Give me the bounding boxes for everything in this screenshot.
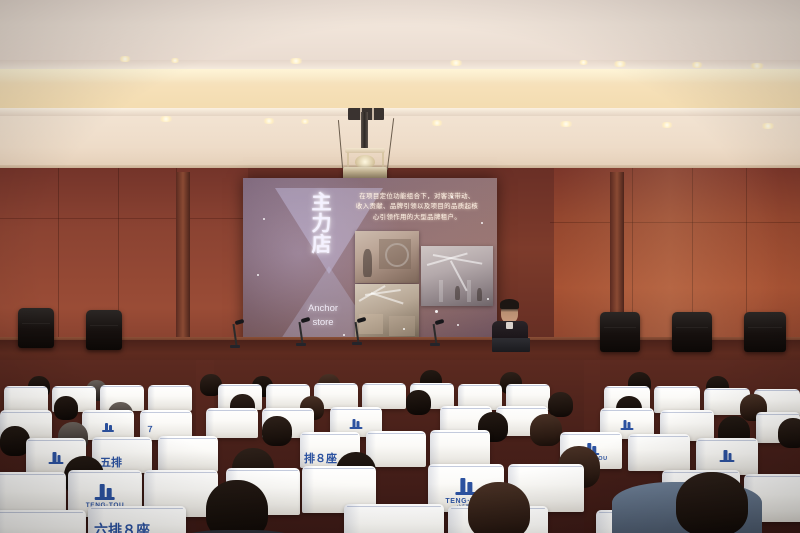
seat-piping xyxy=(442,408,491,409)
attendee-head xyxy=(530,414,562,446)
downlight xyxy=(118,56,132,62)
wall-horizontal-seam xyxy=(550,222,800,223)
attendee-head xyxy=(548,392,573,417)
downlight xyxy=(690,62,704,68)
executive-chair xyxy=(86,310,122,350)
seat-piping xyxy=(757,414,798,415)
seat-piping xyxy=(368,433,424,434)
tengtou-building-mark xyxy=(621,420,634,430)
downlight xyxy=(300,119,310,124)
seat-piping xyxy=(510,466,581,467)
downlight xyxy=(158,116,174,122)
seat-piping xyxy=(91,508,183,509)
seat-piping xyxy=(160,438,216,439)
logo-base xyxy=(95,497,115,500)
seat-piping xyxy=(101,386,142,387)
tengtou-building-mark xyxy=(95,484,115,500)
downlight xyxy=(612,61,628,67)
conference-seat[interactable] xyxy=(362,383,406,409)
downlight xyxy=(430,120,444,126)
slide-particle xyxy=(263,218,265,220)
seat-piping xyxy=(267,385,308,386)
seat-number-marker: ７ xyxy=(146,426,154,434)
seat-piping xyxy=(347,506,441,507)
mic-base xyxy=(296,343,306,346)
ceiling-lower-soffit xyxy=(0,116,800,168)
conference-hall-photo: 主 力 店 Anchor store 在项目定位功能组合下，对客流带动、 收入贡… xyxy=(0,0,800,533)
slide-particle xyxy=(451,196,453,198)
chair-logo xyxy=(350,419,363,429)
seat-piping xyxy=(332,409,381,410)
projector-mount-pole xyxy=(361,112,368,150)
attendee-head-foreground xyxy=(206,480,268,533)
slide-heading-english: Anchor store xyxy=(281,302,365,330)
slide-thumbnail-mall-atrium xyxy=(421,246,493,306)
conference-seat[interactable] xyxy=(82,410,134,440)
seat-piping xyxy=(459,385,500,386)
downlight xyxy=(660,122,674,128)
seat-piping xyxy=(94,439,150,440)
seat-row-marker: 六排８座 xyxy=(94,524,150,533)
seat-piping xyxy=(705,389,748,390)
seat-piping xyxy=(264,410,313,411)
slide-heading-en-line2: store xyxy=(281,316,365,330)
downlight xyxy=(170,58,180,63)
slide-particle xyxy=(435,310,438,313)
tengtou-building-mark xyxy=(49,452,64,464)
slide-particle xyxy=(257,274,259,276)
seat-piping xyxy=(0,474,64,475)
seat-piping xyxy=(28,440,84,441)
attendee-head xyxy=(778,418,800,448)
executive-chair xyxy=(672,312,712,352)
mic-base xyxy=(430,343,440,346)
seat-piping xyxy=(562,434,620,435)
seat-piping xyxy=(5,387,46,388)
slide-particle xyxy=(487,298,489,300)
attendee-head xyxy=(262,416,292,446)
conference-seat[interactable] xyxy=(366,431,426,467)
downlight xyxy=(578,60,589,65)
slide-heading-chinese: 主 力 店 xyxy=(305,192,339,256)
storefront-panel xyxy=(379,239,411,269)
slide-particle xyxy=(403,328,405,330)
seat-piping xyxy=(142,412,191,413)
conference-seat[interactable] xyxy=(158,436,218,472)
slide-body-line: 心引领作用的大型品牌租户。 xyxy=(343,212,491,222)
seat-piping xyxy=(315,384,356,385)
logo-base xyxy=(621,428,634,430)
seat-piping xyxy=(219,385,260,386)
slide-heading-char: 店 xyxy=(305,234,339,255)
conference-seat[interactable] xyxy=(4,386,48,412)
tengtou-building-mark xyxy=(350,419,363,429)
slide-body-text: 在项目定位功能组合下，对客流带动、 收入贡献、品牌引领以及项目的品质起核 心引领… xyxy=(343,191,491,222)
conference-seat[interactable] xyxy=(148,385,192,411)
attendee-head xyxy=(406,390,431,415)
supermarket-light-line xyxy=(371,292,404,304)
seat-piping xyxy=(605,387,648,388)
atrium-column xyxy=(439,280,443,302)
presenter-hair xyxy=(500,299,519,309)
atrium-column xyxy=(467,280,471,302)
seat-piping xyxy=(755,390,798,391)
conference-seat[interactable] xyxy=(628,434,690,471)
conference-seat[interactable] xyxy=(206,408,258,438)
logo-base xyxy=(102,430,114,432)
seat-piping xyxy=(432,432,488,433)
tengtou-building-mark xyxy=(102,423,114,432)
ceiling-cove-light xyxy=(0,69,800,111)
seat-piping xyxy=(149,386,190,387)
seat-piping xyxy=(507,385,548,386)
wall-horizontal-seam xyxy=(0,218,250,219)
ceiling-upper-plane xyxy=(0,0,800,62)
chair-logo xyxy=(720,450,735,462)
slide-thumbnail-supermarket xyxy=(355,284,419,340)
conference-seat[interactable] xyxy=(654,386,700,413)
logo-base xyxy=(350,427,363,429)
conference-seat[interactable]: 六排８座 xyxy=(88,506,186,533)
slide-particle xyxy=(481,222,483,224)
logo-base xyxy=(720,460,735,462)
seat-piping xyxy=(630,436,688,437)
seat-piping xyxy=(0,512,83,513)
seat-piping xyxy=(498,408,547,409)
slide-particle xyxy=(457,324,459,326)
seat-piping xyxy=(2,412,51,413)
conference-seat[interactable] xyxy=(430,430,490,466)
chair-logo xyxy=(621,420,634,430)
chair-logo xyxy=(102,423,114,432)
atrium-shopper xyxy=(455,286,460,300)
seat-piping xyxy=(228,470,298,471)
slide-body-line: 收入贡献、品牌引领以及项目的品质起核 xyxy=(343,201,491,211)
mic-base xyxy=(230,345,240,348)
seat-piping xyxy=(208,410,257,411)
slide-heading-char: 主 xyxy=(305,192,339,213)
atrium-shopper xyxy=(477,288,482,301)
audience-seating-area: ７ xyxy=(0,360,800,533)
downlight xyxy=(760,123,776,129)
slide-particle xyxy=(343,334,345,336)
presenter-collar xyxy=(506,322,513,329)
seat-piping xyxy=(70,472,140,473)
seat-piping xyxy=(662,412,713,413)
chair-logo xyxy=(49,452,64,464)
mic-base xyxy=(352,342,362,345)
seat-piping xyxy=(655,387,698,388)
seat-row-marker: 五排 xyxy=(100,457,122,468)
downlight xyxy=(558,121,574,127)
downlight xyxy=(748,63,766,69)
projection-screen: 主 力 店 Anchor store 在项目定位功能组合下，对客流带动、 收入贡… xyxy=(243,178,497,346)
logo-base xyxy=(49,462,64,464)
executive-chair xyxy=(18,308,54,348)
executive-chair xyxy=(744,312,786,352)
executive-chair xyxy=(600,312,640,352)
presenter-laptop xyxy=(492,338,530,352)
seat-piping xyxy=(602,410,653,411)
seat-piping xyxy=(53,387,94,388)
attendee-head-foreground xyxy=(468,482,530,533)
supermarket-shelf xyxy=(389,316,415,336)
seat-piping xyxy=(746,476,800,477)
downlight xyxy=(288,58,304,64)
conference-seat[interactable] xyxy=(0,510,86,533)
seat-piping xyxy=(411,384,452,385)
projector-mount-plate xyxy=(345,148,385,153)
attendee-head-foreground xyxy=(676,472,748,533)
conference-seat[interactable] xyxy=(344,504,444,533)
slide-heading-en-line1: Anchor xyxy=(281,302,365,316)
seat-piping xyxy=(302,434,358,435)
storefront-person xyxy=(363,249,372,277)
tengtou-building-mark xyxy=(720,450,735,462)
seat-piping xyxy=(363,384,404,385)
seat-piping xyxy=(84,412,133,413)
seat-piping xyxy=(698,440,756,441)
attendee-head xyxy=(54,396,78,420)
seat-piping xyxy=(146,472,216,473)
slide-body-line: 在项目定位功能组合下，对客流带动、 xyxy=(343,191,491,201)
seat-piping xyxy=(430,466,501,467)
seat-piping xyxy=(304,468,374,469)
downlight xyxy=(262,118,276,124)
seat-number-marker: 排８座 xyxy=(304,453,337,464)
downlight xyxy=(448,60,464,66)
slide-thumbnail-retail-storefront xyxy=(355,231,419,283)
